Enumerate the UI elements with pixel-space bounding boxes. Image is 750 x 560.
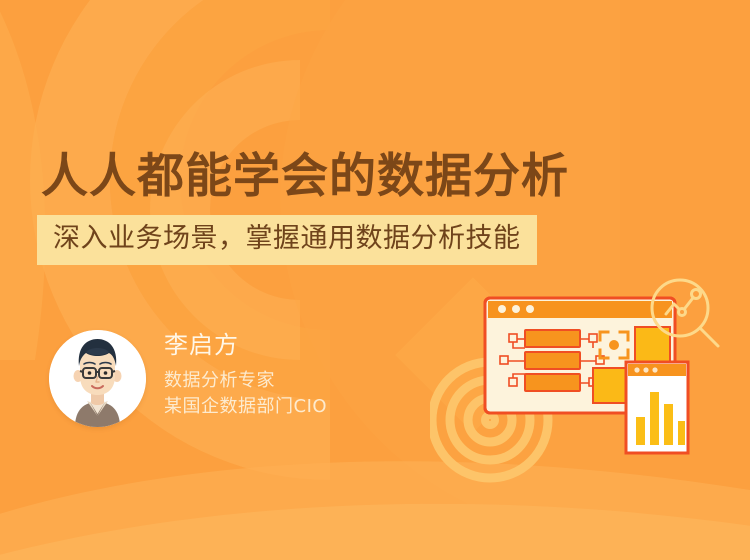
bar-chart-window — [626, 362, 688, 453]
avatar — [49, 330, 146, 427]
window-dots — [498, 305, 534, 313]
flow-nodes — [525, 330, 580, 391]
subtitle-band: 深入业务场景，掌握通用数据分析技能 — [37, 215, 537, 265]
page-title: 人人都能学会的数据分析 — [41, 148, 569, 206]
chart-window-dots — [634, 367, 657, 372]
analytics-illustration — [430, 270, 750, 485]
presenter-role-line1: 数据分析专家 — [164, 368, 327, 394]
focus-center-dot — [609, 340, 619, 350]
presenter-role-line2: 某国企数据部门CIO — [164, 394, 327, 420]
yellow-tile-bottom — [593, 368, 628, 403]
avatar-illustration — [49, 330, 146, 427]
presenter-info: 李启方 数据分析专家 某国企数据部门CIO — [164, 330, 327, 420]
presenter-name: 李启方 — [164, 330, 327, 360]
course-banner: 人人都能学会的数据分析 深入业务场景，掌握通用数据分析技能 — [0, 0, 750, 560]
subtitle-text: 深入业务场景，掌握通用数据分析技能 — [53, 223, 521, 255]
